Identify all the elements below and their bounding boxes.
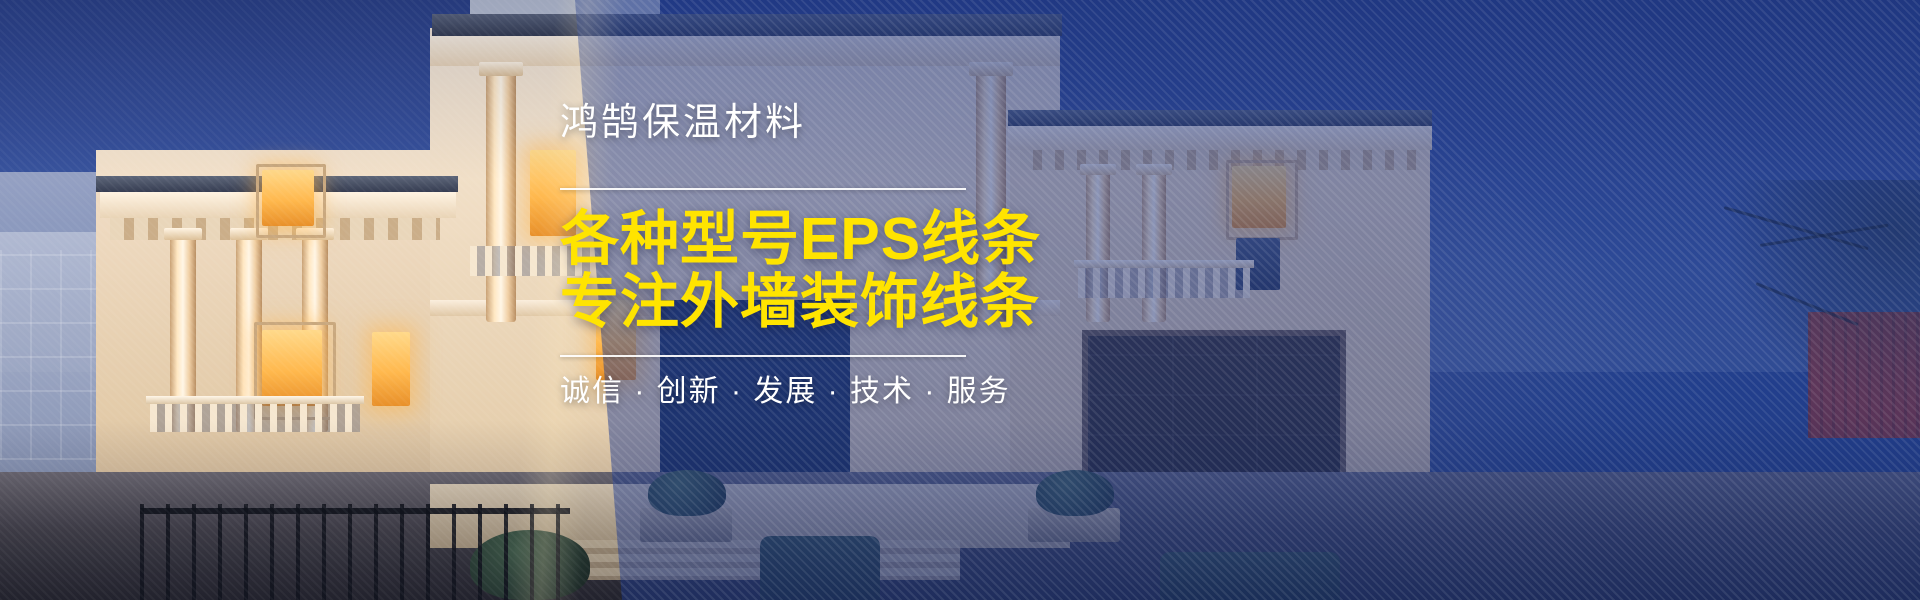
banner-copy: 鸿鹄保温材料 各种型号EPS线条 专注外墙装饰线条 诚信 · 创新 · 发展 ·…: [560, 104, 1080, 407]
divider-bottom: [560, 355, 966, 357]
headline-line-2: 专注外墙装饰线条: [560, 271, 1080, 334]
promo-banner: 鸿鹄保温材料 各种型号EPS线条 专注外墙装饰线条 诚信 · 创新 · 发展 ·…: [0, 0, 1920, 600]
brand-name: 鸿鹄保温材料: [560, 104, 1080, 142]
divider-top: [560, 188, 966, 190]
tagline: 诚信 · 创新 · 发展 · 技术 · 服务: [560, 377, 1080, 407]
headline-line-1: 各种型号EPS线条: [560, 206, 1041, 272]
headline: 各种型号EPS线条 专注外墙装饰线条: [560, 208, 1080, 333]
